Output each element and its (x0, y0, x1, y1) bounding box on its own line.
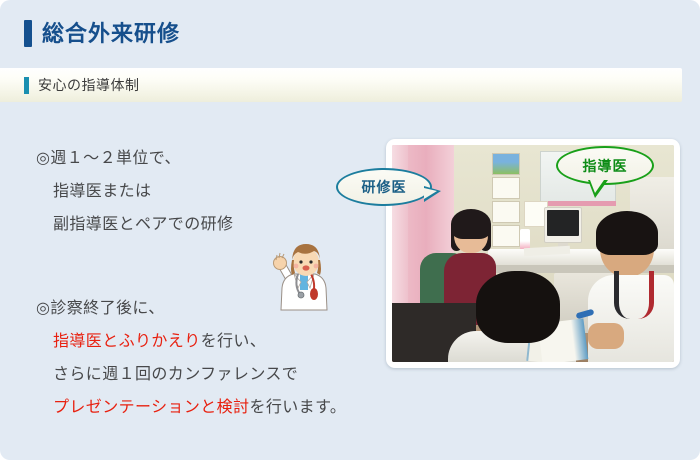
content-line: 指導医とふりかえりを行い、 (36, 325, 346, 358)
female-doctor-icon (266, 240, 342, 314)
content-line: さらに週１回のカンファレンスで (36, 358, 346, 391)
content-line: 指導医または (36, 175, 233, 208)
page-title: 総合外来研修 (42, 20, 180, 47)
subtitle-text: 安心の指導体制 (38, 77, 140, 94)
line-text: を行い、 (201, 333, 267, 350)
speech-bubble-supervisor-tail (588, 180, 608, 198)
line-text: さらに週１回のカンファレンスで (53, 366, 298, 383)
subtitle-band: 安心の指導体制 (0, 68, 682, 102)
highlighted-text: 指導医とふりかえり (53, 333, 201, 350)
line-text: 副指導医とペアでの研修 (53, 216, 233, 233)
title-accent-bar (24, 20, 32, 47)
content-block-1: ◎週１～２単位で、 指導医または 副指導医とペアでの研修 (36, 142, 233, 241)
line-text: 週１～２単位で、 (50, 150, 181, 167)
content-line: 副指導医とペアでの研修 (36, 208, 233, 241)
speech-bubble-trainee: 研修医 (336, 168, 432, 206)
subtitle-accent-bar (24, 77, 29, 94)
speech-bubble-trainee-label: 研修医 (362, 177, 407, 197)
speech-bubble-supervisor-label: 指導医 (583, 156, 628, 176)
line-text: 診察終了後に、 (50, 300, 164, 317)
page-title-row: 総合外来研修 (24, 18, 180, 48)
line-text: 指導医または (53, 183, 151, 200)
training-info-card: 総合外来研修 安心の指導体制 ◎週１～２単位で、 指導医または 副指導医とペアで… (0, 0, 700, 460)
list-marker: ◎ (36, 300, 50, 317)
content-line: プレゼンテーションと検討を行います。 (36, 391, 346, 424)
list-marker: ◎ (36, 150, 50, 167)
highlighted-text: プレゼンテーションと検討 (53, 399, 249, 416)
speech-bubble-trainee-tail (424, 186, 441, 202)
line-text: を行います。 (249, 399, 346, 416)
content-line: ◎週１～２単位で、 (36, 142, 233, 175)
